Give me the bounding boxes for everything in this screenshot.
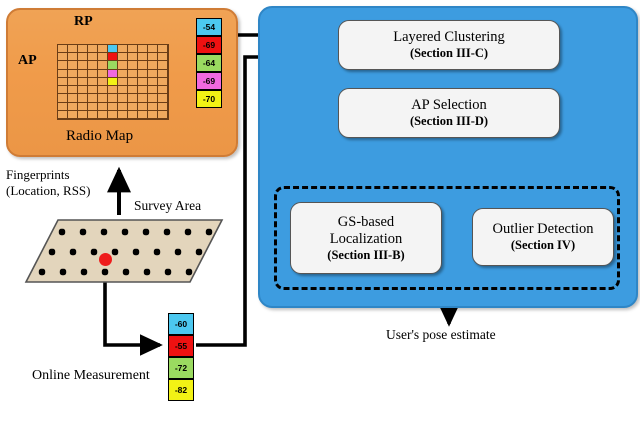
fingerprint-dot — [165, 269, 171, 275]
radio-map-cell — [58, 53, 68, 61]
user-position-dot — [99, 253, 112, 266]
radio-map-cell — [68, 111, 78, 119]
radio-map-cell — [158, 78, 168, 86]
radio-map-cell — [78, 86, 88, 94]
radio-map-rss-value: -64 — [203, 58, 215, 68]
fingerprint-dot — [101, 229, 107, 235]
pose-estimate-label: User's pose estimate — [386, 327, 496, 343]
radio-map-cell — [78, 53, 88, 61]
layered-clustering-title: Layered Clustering — [393, 29, 505, 46]
fingerprint-dot — [186, 269, 192, 275]
radio-map-rss-cell: -69 — [196, 36, 222, 54]
radio-map-cell — [108, 103, 118, 111]
radio-map-cell — [58, 45, 68, 53]
radio-map-grid — [57, 44, 169, 120]
fingerprint-dot — [80, 229, 86, 235]
ap-selection-box[interactable]: AP Selection (Section III-D) — [338, 88, 560, 138]
fingerprint-dot — [60, 269, 66, 275]
radio-map-cell — [158, 53, 168, 61]
online-rss-value: -55 — [175, 341, 187, 351]
radio-map-cell — [118, 45, 128, 53]
radio-map-cell — [138, 111, 148, 119]
radio-map-cell — [78, 103, 88, 111]
radio-map-cell — [98, 78, 108, 86]
online-measurement-rss-strip: -60-55-72-82 — [168, 313, 194, 401]
radio-map-rss-value: -54 — [203, 22, 215, 32]
radio-map-cell — [68, 86, 78, 94]
fingerprint-dot — [185, 229, 191, 235]
outlier-detection-section: (Section IV) — [511, 238, 575, 253]
radio-map-cell — [118, 86, 128, 94]
radio-map-cell — [68, 61, 78, 69]
fingerprint-dot — [175, 249, 181, 255]
radio-map-rss-strip: -54-69-64-69-70 — [196, 18, 222, 108]
fingerprint-dot — [143, 229, 149, 235]
online-rss-cell: -55 — [168, 335, 194, 357]
radio-map-cell — [138, 45, 148, 53]
fingerprint-dot — [102, 269, 108, 275]
radio-map-cell — [128, 111, 138, 119]
online-rss-cell: -82 — [168, 379, 194, 401]
ap-selection-title: AP Selection — [411, 97, 487, 114]
fingerprint-dot — [49, 249, 55, 255]
radio-map-cell — [98, 45, 108, 53]
radio-map-cell — [128, 103, 138, 111]
layered-clustering-box[interactable]: Layered Clustering (Section III-C) — [338, 20, 560, 70]
outlier-detection-box[interactable]: Outlier Detection (Section IV) — [472, 208, 614, 266]
fingerprint-dot — [133, 249, 139, 255]
radio-map-cell — [118, 111, 128, 119]
radio-map-cell — [78, 94, 88, 102]
fingerprint-dot — [196, 249, 202, 255]
radio-map-cell — [78, 45, 88, 53]
rp-axis-label: RP — [74, 14, 93, 30]
radio-map-cell — [148, 103, 158, 111]
radio-map-cell — [108, 61, 118, 69]
gs-localization-title-line1: GS-based — [338, 214, 394, 231]
gs-localization-box[interactable]: GS-based Localization (Section III-B) — [290, 202, 442, 274]
radio-map-cell — [138, 53, 148, 61]
radio-map-cell — [108, 94, 118, 102]
radio-map-cell — [98, 86, 108, 94]
radio-map-cell — [138, 78, 148, 86]
radio-map-cell — [98, 111, 108, 119]
radio-map-rss-cell: -69 — [196, 72, 222, 90]
fingerprints-label-line1: Fingerprints — [6, 167, 91, 183]
radio-map-rss-cell: -54 — [196, 18, 222, 36]
radio-map-cell — [58, 78, 68, 86]
fingerprint-dot — [123, 269, 129, 275]
radio-map-cell — [58, 103, 68, 111]
fingerprint-dot — [81, 269, 87, 275]
radio-map-cell — [158, 61, 168, 69]
radio-map-cell — [138, 70, 148, 78]
radio-map-cell — [58, 61, 68, 69]
radio-map-cell — [108, 70, 118, 78]
radio-map-cell — [128, 61, 138, 69]
radio-map-cell — [158, 86, 168, 94]
radio-map-cell — [118, 70, 128, 78]
radio-map-cell — [148, 78, 158, 86]
radio-map-rss-value: -70 — [203, 94, 215, 104]
fingerprint-dot — [122, 229, 128, 235]
online-rss-value: -82 — [175, 385, 187, 395]
radio-map-rss-cell: -64 — [196, 54, 222, 72]
radio-map-cell — [148, 111, 158, 119]
radio-map-cell — [148, 53, 158, 61]
radio-map-cell — [58, 111, 68, 119]
outlier-detection-title: Outlier Detection — [492, 221, 593, 238]
ap-selection-section: (Section III-D) — [410, 114, 488, 129]
radio-map-cell — [88, 78, 98, 86]
fingerprints-label-line2: (Location, RSS) — [6, 183, 91, 199]
radio-map-cell — [98, 70, 108, 78]
radio-map-cell — [78, 78, 88, 86]
radio-map-cell — [68, 70, 78, 78]
radio-map-cell — [58, 86, 68, 94]
fingerprint-dot — [39, 269, 45, 275]
radio-map-cell — [148, 61, 158, 69]
radio-map-cell — [138, 103, 148, 111]
radio-map-cell — [68, 45, 78, 53]
fingerprints-label: Fingerprints (Location, RSS) — [6, 167, 91, 200]
radio-map-cell — [78, 111, 88, 119]
diagram-canvas: RP AP Radio Map -54-69-64-69-70 Fingerpr… — [0, 0, 640, 438]
radio-map-cell — [158, 103, 168, 111]
radio-map-cell — [88, 86, 98, 94]
radio-map-cell — [158, 45, 168, 53]
radio-map-cell — [98, 53, 108, 61]
radio-map-cell — [158, 111, 168, 119]
radio-map-cell — [128, 53, 138, 61]
radio-map-caption: Radio Map — [66, 128, 133, 145]
radio-map-cell — [68, 94, 78, 102]
gs-localization-section: (Section III-B) — [327, 248, 404, 263]
radio-map-cell — [148, 45, 158, 53]
fingerprint-dot — [59, 229, 65, 235]
radio-map-cell — [118, 61, 128, 69]
radio-map-rss-value: -69 — [203, 40, 215, 50]
radio-map-cell — [158, 70, 168, 78]
radio-map-cell — [118, 94, 128, 102]
radio-map-cell — [118, 78, 128, 86]
radio-map-cell — [88, 45, 98, 53]
radio-map-cell — [138, 86, 148, 94]
gs-localization-title-line2: Localization — [330, 231, 402, 248]
fingerprint-dot — [91, 249, 97, 255]
survey-area-graphic — [24, 218, 224, 286]
online-rss-value: -72 — [175, 363, 187, 373]
radio-map-cell — [78, 70, 88, 78]
radio-map-cell — [108, 111, 118, 119]
radio-map-cell — [88, 111, 98, 119]
fingerprint-dot — [144, 269, 150, 275]
radio-map-cell — [158, 94, 168, 102]
radio-map-cell — [118, 53, 128, 61]
radio-map-cell — [148, 70, 158, 78]
radio-map-cell — [78, 61, 88, 69]
radio-map-cell — [128, 94, 138, 102]
fingerprint-dot — [112, 249, 118, 255]
radio-map-cell — [118, 103, 128, 111]
ap-axis-label: AP — [18, 53, 37, 69]
radio-map-cell — [128, 86, 138, 94]
radio-map-cell — [108, 45, 118, 53]
radio-map-cell — [148, 94, 158, 102]
radio-map-cell — [88, 53, 98, 61]
radio-map-cell — [58, 94, 68, 102]
radio-map-cell — [98, 103, 108, 111]
online-measurement-label: Online Measurement — [32, 368, 150, 384]
radio-map-cell — [68, 53, 78, 61]
radio-map-cell — [128, 45, 138, 53]
radio-map-cell — [148, 86, 158, 94]
radio-map-cell — [58, 70, 68, 78]
fingerprint-dot — [164, 229, 170, 235]
radio-map-cell — [88, 70, 98, 78]
radio-map-cell — [128, 70, 138, 78]
radio-map-cell — [68, 78, 78, 86]
fingerprint-dot — [154, 249, 160, 255]
radio-map-cell — [108, 86, 118, 94]
online-rss-cell: -72 — [168, 357, 194, 379]
radio-map-cell — [128, 78, 138, 86]
radio-map-cell — [88, 61, 98, 69]
layered-clustering-section: (Section III-C) — [410, 46, 488, 61]
radio-map-rss-cell: -70 — [196, 90, 222, 108]
radio-map-cell — [98, 94, 108, 102]
radio-map-cell — [88, 103, 98, 111]
online-rss-cell: -60 — [168, 313, 194, 335]
radio-map-cell — [88, 94, 98, 102]
radio-map-cell — [138, 94, 148, 102]
fingerprint-dot — [206, 229, 212, 235]
survey-area-label: Survey Area — [134, 198, 201, 214]
radio-map-rss-value: -69 — [203, 76, 215, 86]
radio-map-cell — [98, 61, 108, 69]
online-rss-value: -60 — [175, 319, 187, 329]
radio-map-cell — [68, 103, 78, 111]
radio-map-cell — [108, 78, 118, 86]
radio-map-cell — [138, 61, 148, 69]
fingerprint-dot — [70, 249, 76, 255]
radio-map-cell — [108, 53, 118, 61]
